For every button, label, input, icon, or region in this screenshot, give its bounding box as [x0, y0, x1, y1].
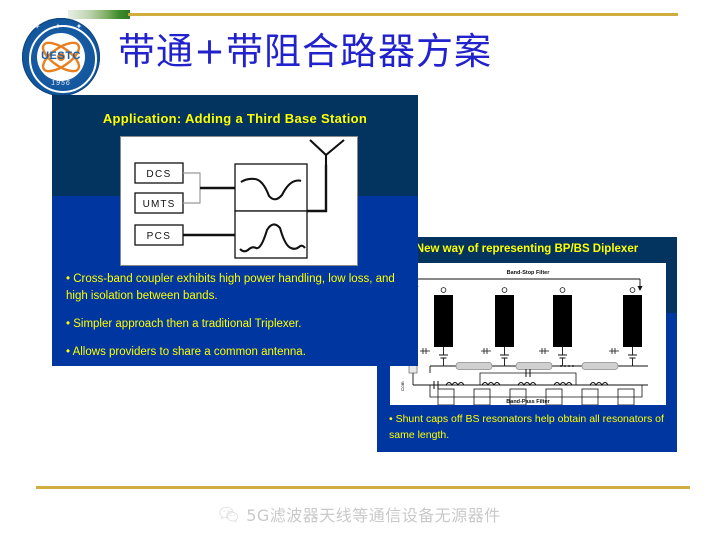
logo-year: 1956 [22, 80, 100, 87]
left-panel-bullets: • Cross-band coupler exhibits high power… [66, 271, 410, 372]
right-panel-bullet: • Shunt caps off BS resonators help obta… [389, 411, 667, 443]
svg-text:UMTS: UMTS [143, 199, 176, 210]
svg-text:DCS: DCS [146, 169, 171, 180]
panel-right-heading: New way of representing BP/BS Diplexer [377, 243, 677, 255]
page-title: 带通+带阻合路器方案 [118, 26, 678, 78]
footer-text: 5G滤波器天线等通信设备无源器件 [246, 502, 501, 526]
bpbs-diplexer-panel: New way of representing BP/BS Diplexer B… [377, 237, 677, 452]
bullet-item: • Cross-band coupler exhibits high power… [66, 271, 410, 305]
panel-left-heading: Application: Adding a Third Base Station [52, 111, 418, 126]
green-gradient-bar [68, 10, 130, 19]
bullet-item: • Allows providers to share a common ant… [66, 344, 410, 361]
svg-text:Band-Pass Filter: Band-Pass Filter [506, 399, 550, 405]
application-panel: Application: Adding a Third Base Station… [52, 95, 418, 366]
svg-text:Com: Com [400, 381, 405, 391]
svg-text:PCS: PCS [147, 231, 172, 242]
gold-rule-bottom [36, 486, 690, 489]
gold-rule-top [128, 13, 678, 16]
wechat-icon [219, 506, 239, 523]
svg-text:Band-Stop Filter: Band-Stop Filter [507, 270, 551, 276]
logo-acronym: UESTC [22, 50, 100, 62]
footer: 5G滤波器天线等通信设备无源器件 [0, 497, 720, 531]
diplexer-schematic: Band-Stop Filter [390, 263, 666, 405]
base-station-diagram: DCS UMTS PCS [120, 136, 358, 266]
bullet-item: • Simpler approach then a traditional Tr… [66, 316, 410, 333]
uestc-logo: ✦ ✦ ✦ UESTC 1956 [22, 18, 100, 96]
slide-canvas: ✦ ✦ ✦ UESTC 1956 带通+带阻合路器方案 New way of r… [0, 0, 720, 540]
